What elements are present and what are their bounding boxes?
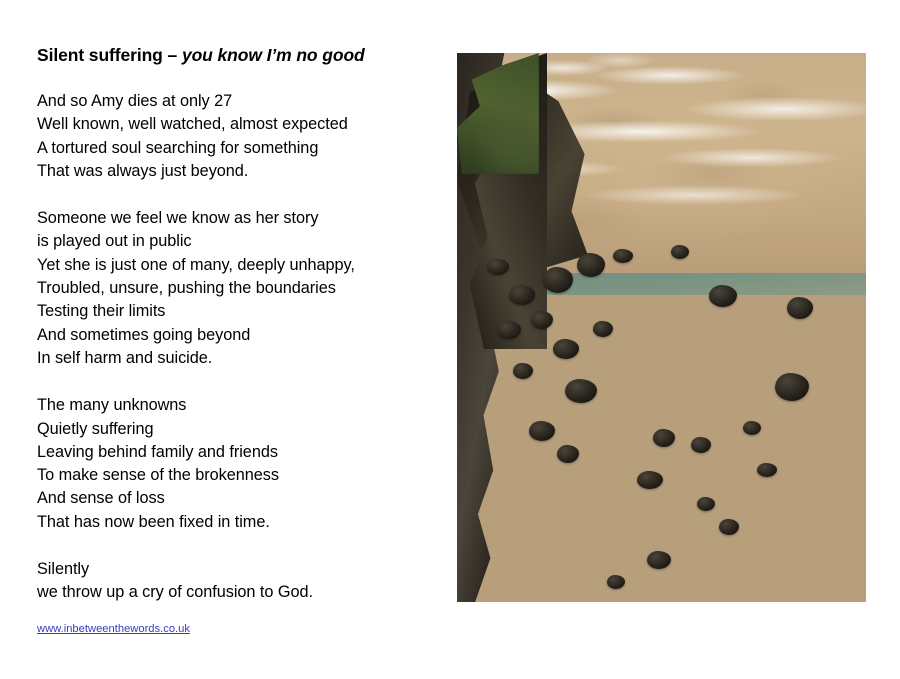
photo-rock	[509, 285, 535, 305]
photo-rock	[691, 437, 711, 453]
poem-column: Silent suffering – you know I’m no good …	[37, 44, 437, 605]
photo-rock	[653, 429, 675, 447]
photo-rock	[775, 373, 809, 401]
photo-rock	[709, 285, 737, 307]
photo-rock	[719, 519, 739, 535]
photo-rock-field	[457, 53, 866, 602]
photo-rock	[647, 551, 671, 569]
poem-line: And sense of loss	[37, 487, 437, 510]
photo-rock	[743, 421, 761, 435]
photo-rock	[513, 363, 533, 379]
page-title-italic: you know I’m no good	[182, 45, 365, 65]
photo-rock	[497, 321, 521, 339]
photo-rock	[531, 311, 553, 329]
photo-rock	[543, 267, 573, 293]
coastline-photo	[457, 53, 866, 602]
source-website-link[interactable]: www.inbetweenthewords.co.uk	[37, 622, 190, 636]
poem-line: The many unknowns	[37, 394, 437, 417]
poem-line: Silently	[37, 558, 437, 581]
page-title-plain: Silent suffering –	[37, 45, 182, 65]
poem-stanza-2: Someone we feel we know as her story is …	[37, 207, 437, 370]
photo-rock	[697, 497, 715, 511]
page-title: Silent suffering – you know I’m no good	[37, 44, 437, 66]
photo-rock	[787, 297, 813, 319]
photo-rock	[637, 471, 663, 489]
photo-rock	[607, 575, 625, 589]
photo-rock	[577, 253, 605, 277]
poem-line: And so Amy dies at only 27	[37, 90, 437, 113]
poem-line: Someone we feel we know as her story	[37, 207, 437, 230]
poem-line: Testing their limits	[37, 300, 437, 323]
photo-rock	[529, 421, 555, 441]
photo-rock	[565, 379, 597, 403]
poem-line: And sometimes going beyond	[37, 324, 437, 347]
poem-line: Yet she is just one of many, deeply unha…	[37, 254, 437, 277]
poem-line: Well known, well watched, almost expecte…	[37, 113, 437, 136]
photo-rock	[613, 249, 633, 263]
photo-rock	[593, 321, 613, 337]
poem-line: Leaving behind family and friends	[37, 441, 437, 464]
poem-stanza-4: Silently we throw up a cry of confusion …	[37, 558, 437, 605]
poem-line: To make sense of the brokenness	[37, 464, 437, 487]
poem-line: is played out in public	[37, 230, 437, 253]
poem-line: A tortured soul searching for something	[37, 137, 437, 160]
poem-stanza-3: The many unknowns Quietly suffering Leav…	[37, 394, 437, 534]
poem-line: That has now been fixed in time.	[37, 511, 437, 534]
poem-stanza-1: And so Amy dies at only 27 Well known, w…	[37, 90, 437, 183]
poem-line: Quietly suffering	[37, 418, 437, 441]
poem-line: we throw up a cry of confusion to God.	[37, 581, 437, 604]
poem-line: In self harm and suicide.	[37, 347, 437, 370]
photo-rock	[757, 463, 777, 477]
poem-line: That was always just beyond.	[37, 160, 437, 183]
photo-rock	[557, 445, 579, 463]
photo-rock	[553, 339, 579, 359]
photo-rock	[487, 259, 509, 275]
photo-rock	[671, 245, 689, 259]
poem-line: Troubled, unsure, pushing the boundaries	[37, 277, 437, 300]
